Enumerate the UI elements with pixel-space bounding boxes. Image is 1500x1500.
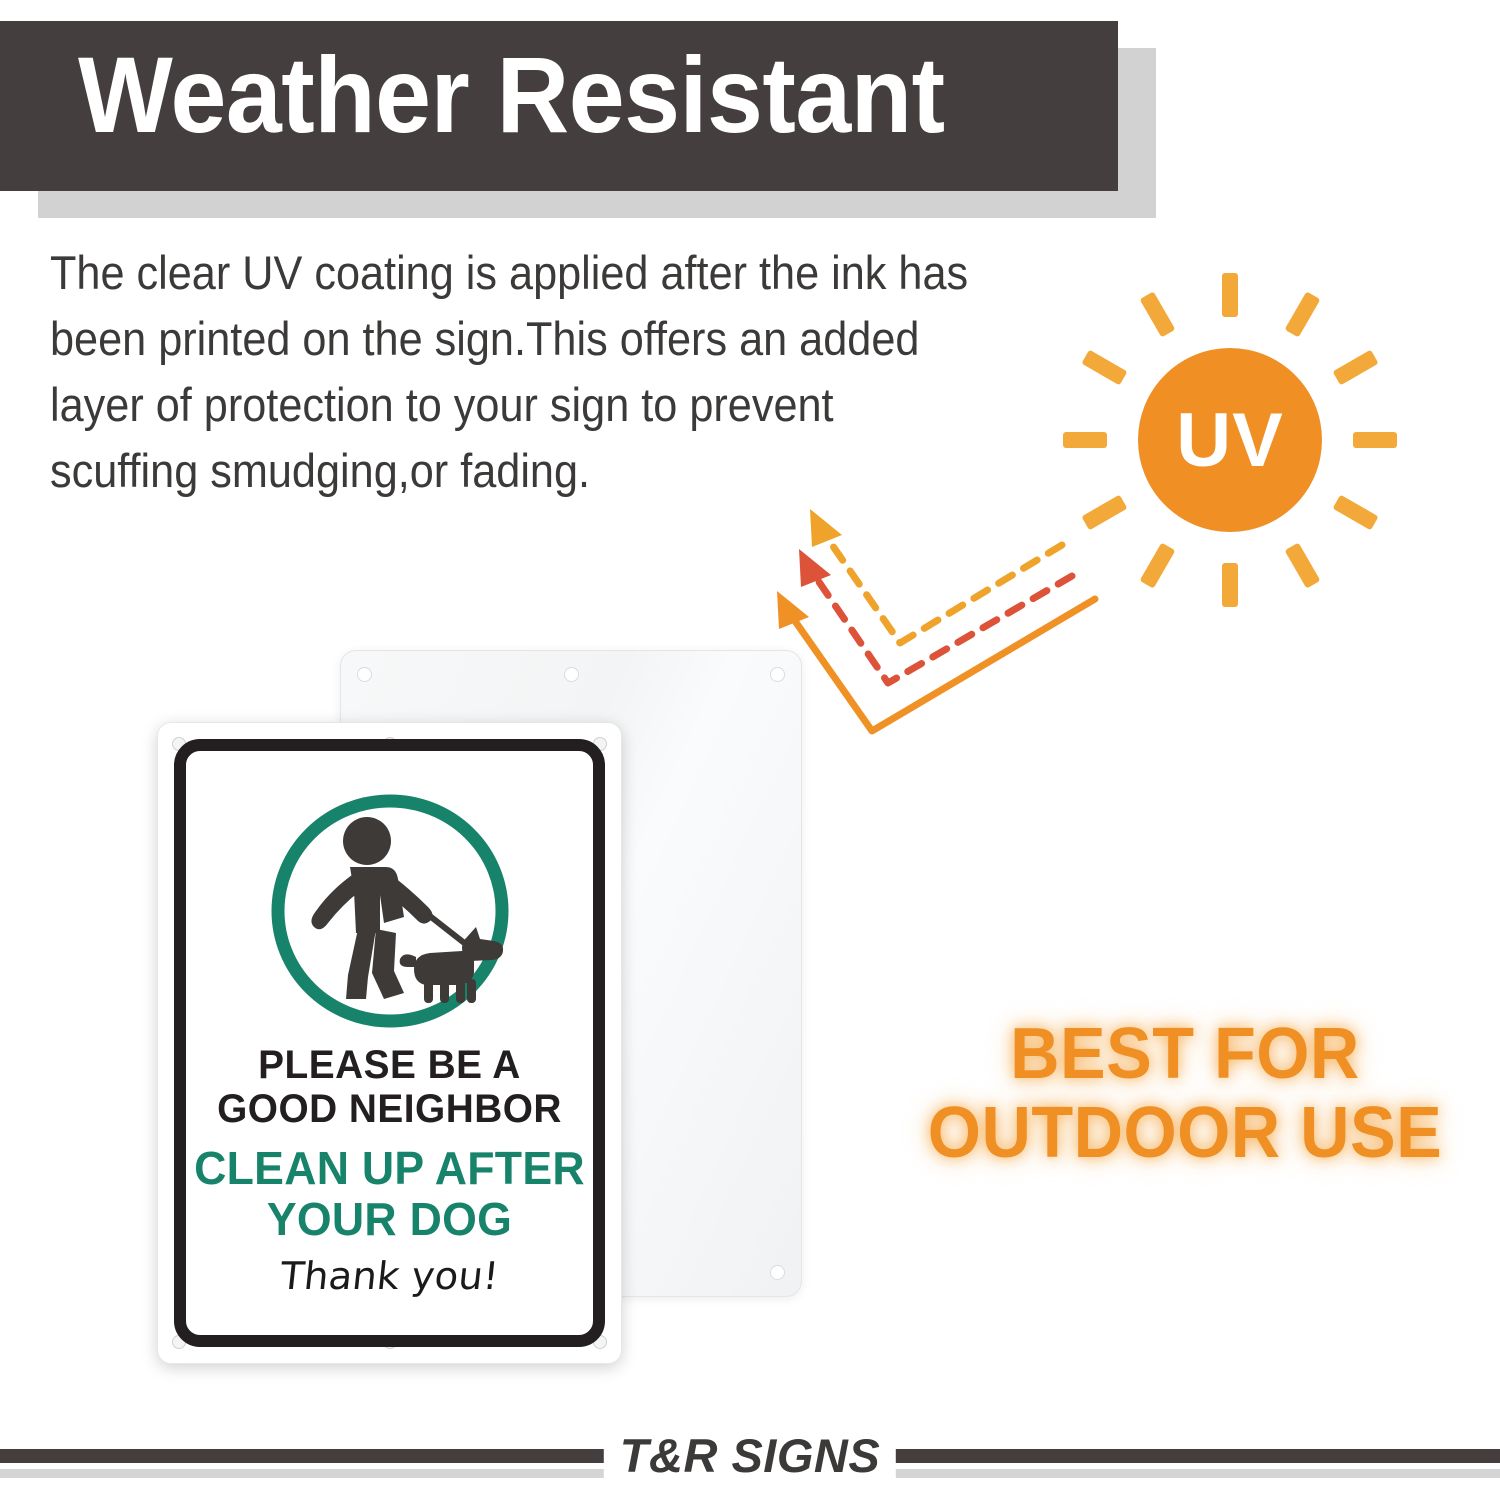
infographic-page: Weather Resistant The clear UV coating i…	[0, 0, 1500, 1500]
footer-brand: T&R SIGNS	[604, 1425, 896, 1487]
uv-ray-arrows	[755, 495, 1115, 760]
product-code: T&R® #HI04PYT	[477, 1321, 567, 1333]
arrow-inner-dashed	[810, 509, 1062, 643]
body-paragraph: The clear UV coating is applied after th…	[50, 240, 979, 504]
outdoor-line-1: BEST FOR	[919, 1015, 1451, 1093]
sign-line-3: CLEAN UP AFTER	[192, 1143, 587, 1194]
page-title: Weather Resistant	[78, 36, 945, 154]
sign-line-2: GOOD NEIGHBOR	[192, 1087, 587, 1131]
panel-hole	[770, 1265, 785, 1280]
panel-hole	[770, 667, 785, 682]
walk-dog-pictogram-icon	[264, 787, 516, 1035]
arrow-middle-dashed	[799, 549, 1072, 683]
arrow-outer-solid	[777, 591, 1095, 731]
sign-line-4: YOUR DOG	[192, 1194, 587, 1245]
outdoor-use-callout: BEST FOR OUTDOOR USE	[905, 1015, 1465, 1173]
thank-you-text: Thank you!	[180, 1255, 600, 1297]
panel-hole	[357, 667, 372, 682]
sign-text-block: PLEASE BE A GOOD NEIGHBOR CLEAN UP AFTER…	[186, 1043, 593, 1297]
product-sign: PLEASE BE A GOOD NEIGHBOR CLEAN UP AFTER…	[157, 722, 622, 1364]
sign-inner-border: PLEASE BE A GOOD NEIGHBOR CLEAN UP AFTER…	[174, 739, 605, 1347]
outdoor-line-2: OUTDOOR USE	[919, 1093, 1451, 1173]
sign-line-1: PLEASE BE A	[192, 1043, 587, 1087]
panel-hole	[564, 667, 579, 682]
